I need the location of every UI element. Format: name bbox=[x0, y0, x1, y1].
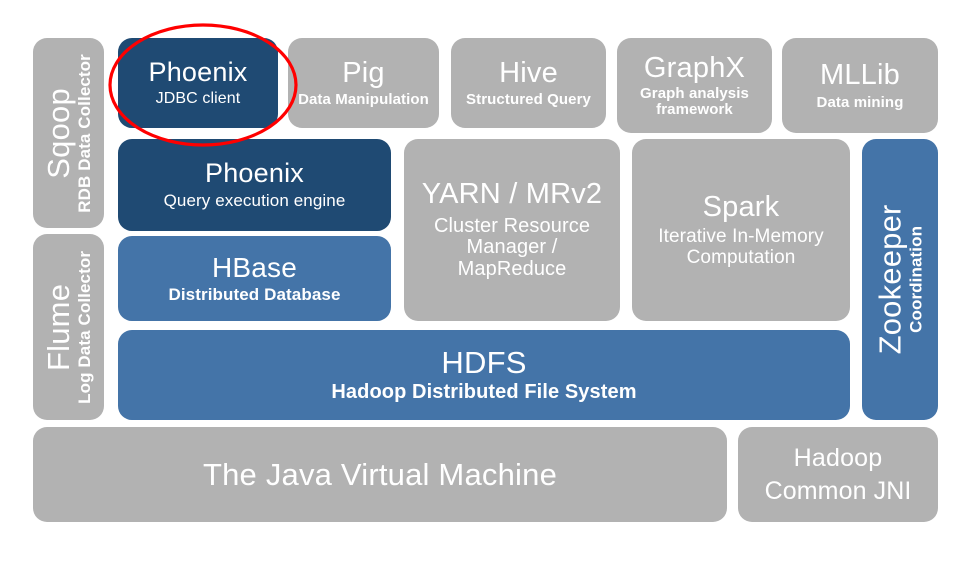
block-sqoop-textwrap: Sqoop RDB Data Collector bbox=[42, 54, 95, 213]
block-spark-subtitle: Iterative In-Memory Computation bbox=[646, 227, 836, 268]
block-phoenix-engine-subtitle: Query execution engine bbox=[164, 192, 346, 210]
block-hdfs-subtitle: Hadoop Distributed File System bbox=[331, 382, 636, 404]
block-pig[interactable]: Pig Data Manipulation bbox=[288, 38, 439, 128]
block-yarn-subtitle: Cluster Resource Manager / MapReduce bbox=[430, 216, 595, 281]
block-sqoop-subtitle: RDB Data Collector bbox=[77, 54, 95, 213]
block-hive-subtitle: Structured Query bbox=[466, 92, 591, 108]
block-phoenix-engine[interactable]: Phoenix Query execution engine bbox=[118, 139, 391, 231]
block-hbase[interactable]: HBase Distributed Database bbox=[118, 236, 391, 321]
block-hive[interactable]: Hive Structured Query bbox=[451, 38, 606, 128]
block-jvm[interactable]: The Java Virtual Machine bbox=[33, 427, 727, 522]
block-sqoop-title: Sqoop bbox=[42, 88, 75, 179]
block-phoenix-jdbc-subtitle: JDBC client bbox=[156, 90, 241, 107]
block-jvm-title: The Java Virtual Machine bbox=[203, 458, 557, 491]
block-flume-title: Flume bbox=[42, 283, 75, 370]
block-mllib[interactable]: MLLib Data mining bbox=[782, 38, 938, 133]
block-zookeeper[interactable]: Zookeeper Coordination bbox=[862, 139, 938, 420]
block-phoenix-jdbc[interactable]: Phoenix JDBC client bbox=[118, 38, 278, 128]
block-phoenix-jdbc-title: Phoenix bbox=[149, 58, 248, 87]
block-graphx-subtitle: Graph analysis framework bbox=[635, 86, 755, 118]
block-zookeeper-title: Zookeeper bbox=[874, 204, 907, 354]
block-graphx[interactable]: GraphX Graph analysis framework bbox=[617, 38, 772, 133]
block-mllib-subtitle: Data mining bbox=[817, 95, 904, 111]
block-mllib-title: MLLib bbox=[820, 60, 900, 91]
block-pig-title: Pig bbox=[342, 58, 385, 89]
block-hadoop-common-jni-subtitle: Common JNI bbox=[765, 478, 912, 505]
block-hdfs-title: HDFS bbox=[441, 346, 526, 379]
block-hbase-title: HBase bbox=[212, 253, 297, 283]
block-pig-subtitle: Data Manipulation bbox=[298, 92, 429, 108]
block-hive-title: Hive bbox=[499, 58, 558, 89]
block-spark-title: Spark bbox=[703, 192, 780, 223]
block-sqoop[interactable]: Sqoop RDB Data Collector bbox=[33, 38, 104, 228]
block-hbase-subtitle: Distributed Database bbox=[168, 286, 340, 304]
block-spark[interactable]: Spark Iterative In-Memory Computation bbox=[632, 139, 850, 321]
diagram-canvas: Sqoop RDB Data Collector Flume Log Data … bbox=[0, 0, 970, 563]
block-flume-subtitle: Log Data Collector bbox=[77, 251, 95, 404]
block-phoenix-engine-title: Phoenix bbox=[205, 159, 304, 188]
block-flume-textwrap: Flume Log Data Collector bbox=[42, 251, 95, 404]
block-graphx-title: GraphX bbox=[644, 53, 745, 84]
block-hadoop-common-jni-title: Hadoop bbox=[794, 445, 883, 472]
block-hdfs[interactable]: HDFS Hadoop Distributed File System bbox=[118, 330, 850, 420]
block-yarn[interactable]: YARN / MRv2 Cluster Resource Manager / M… bbox=[404, 139, 620, 321]
block-zookeeper-subtitle: Coordination bbox=[908, 226, 926, 333]
block-zookeeper-textwrap: Zookeeper Coordination bbox=[874, 204, 927, 354]
block-flume[interactable]: Flume Log Data Collector bbox=[33, 234, 104, 420]
block-hadoop-common-jni[interactable]: Hadoop Common JNI bbox=[738, 427, 938, 522]
block-yarn-title: YARN / MRv2 bbox=[422, 179, 603, 210]
